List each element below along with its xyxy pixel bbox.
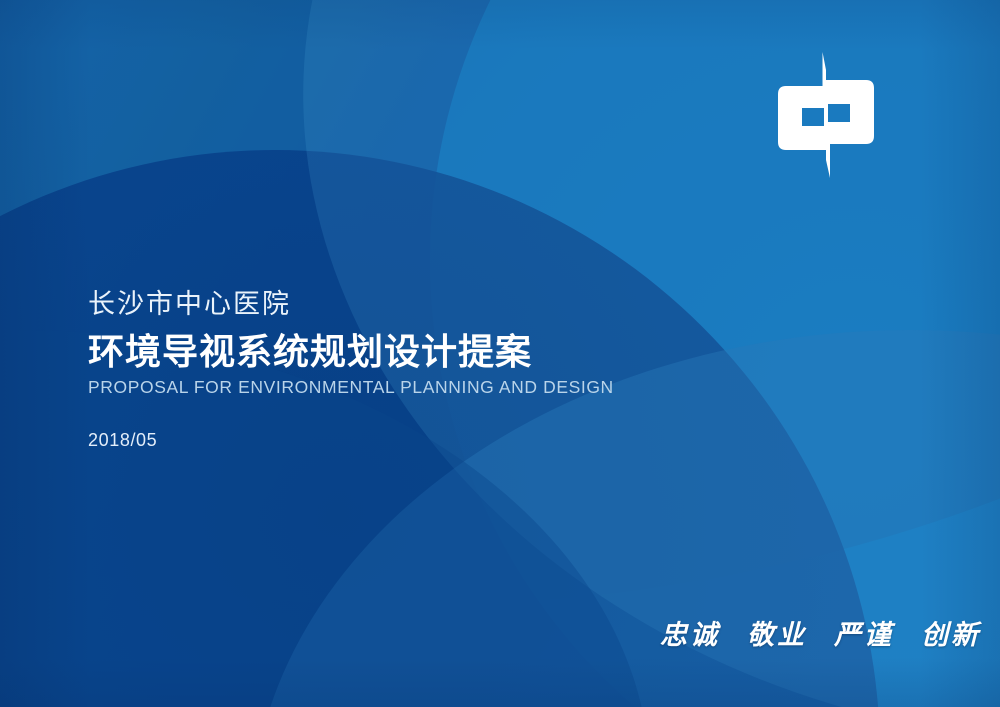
organization-name: 长沙市中心医院: [88, 288, 708, 322]
page-subtitle: PROPOSAL FOR ENVIRONMENTAL PLANNING AND …: [88, 376, 708, 399]
motto-item-1: 忠诚: [660, 613, 720, 652]
cover-slide: 长沙市中心医院 环境导视系统规划设计提案 PROPOSAL FOR ENVIRO…: [0, 0, 1000, 707]
hospital-bracket-logo-icon: [760, 50, 900, 180]
date-label: 2018/05: [88, 430, 157, 451]
motto-row: 忠诚 敬业 严谨 创新: [660, 613, 981, 652]
motto-item-2: 敬业: [747, 613, 807, 652]
title-block: 长沙市中心医院 环境导视系统规划设计提案 PROPOSAL FOR ENVIRO…: [88, 288, 708, 398]
motto-item-3: 严谨: [834, 613, 894, 652]
motto-item-4: 创新: [921, 613, 981, 652]
page-title: 环境导视系统规划设计提案: [88, 330, 708, 374]
